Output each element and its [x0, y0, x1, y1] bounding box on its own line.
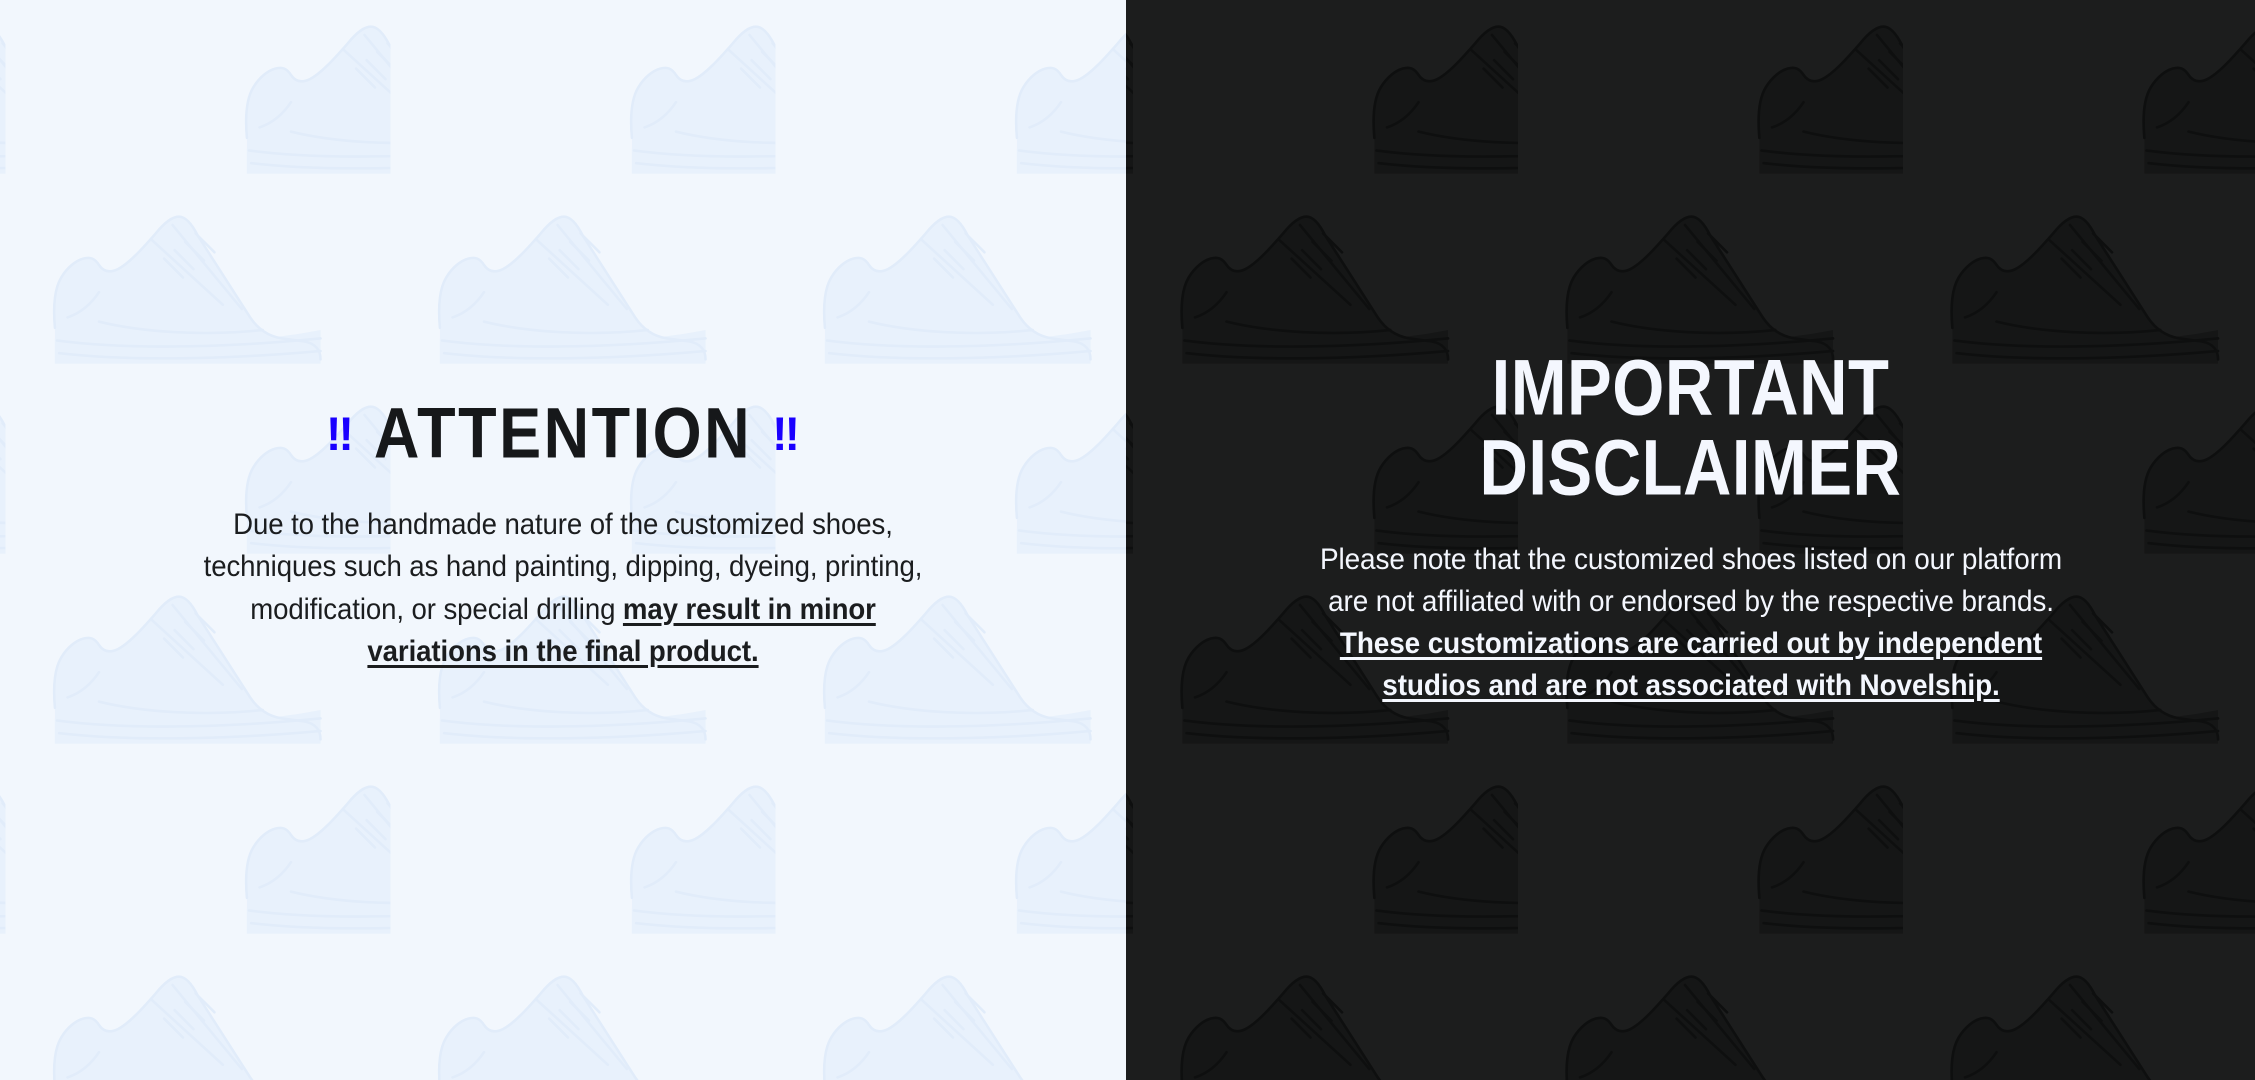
- attention-body: Due to the handmade nature of the custom…: [195, 504, 931, 673]
- attention-heading-text: ATTENTION: [374, 394, 752, 474]
- double-exclamation-icon-left: ‼: [326, 410, 354, 457]
- disclaimer-panel: IMPORTANT DISCLAIMER Please note that th…: [1126, 0, 2255, 1080]
- attention-heading: ‼ATTENTION‼: [40, 398, 1086, 470]
- attention-panel: ‼ATTENTION‼ Due to the handmade nature o…: [0, 0, 1126, 1080]
- disclaimer-heading: IMPORTANT DISCLAIMER: [1166, 348, 2215, 509]
- disclaimer-body-plain: Please note that the customized shoes li…: [1320, 543, 2062, 618]
- disclaimer-body-emphasis: These customizations are carried out by …: [1339, 627, 2041, 702]
- disclaimer-heading-line2: DISCLAIMER: [1166, 429, 2215, 510]
- disclaimer-heading-line1: IMPORTANT: [1492, 343, 1890, 432]
- disclaimer-body: Please note that the customized shoes li…: [1314, 539, 2067, 707]
- disclaimer-content: IMPORTANT DISCLAIMER Please note that th…: [1126, 373, 2255, 708]
- split-banner: ‼ATTENTION‼ Due to the handmade nature o…: [0, 0, 2255, 1080]
- attention-content: ‼ATTENTION‼ Due to the handmade nature o…: [0, 407, 1126, 673]
- double-exclamation-icon-right: ‼: [772, 410, 800, 457]
